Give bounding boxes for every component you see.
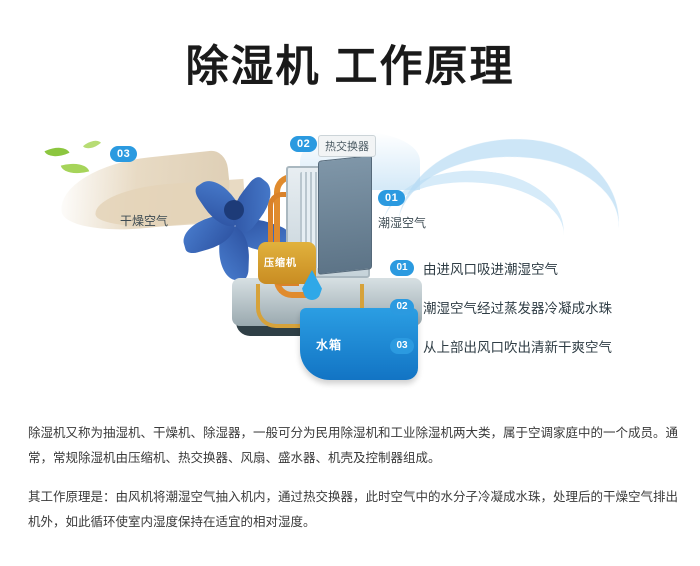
description-paragraph-2: 其工作原理是：由风机将潮湿空气抽入机内，通过热交换器，此时空气中的水分子冷凝成水… [28,484,678,534]
dry-air-label: 干燥空气 [120,212,168,229]
leaf-icon [44,142,69,162]
humid-air-label: 潮湿空气 [378,214,426,231]
legend-badge: 02 [390,299,414,315]
heat-exchanger-block [318,155,372,275]
page-title-part2: 工作原理 [335,42,515,92]
badge-02: 02 [290,136,317,152]
legend-list: 01 由进风口吸进潮湿空气 02 潮湿空气经过蒸发器冷凝成水珠 03 从上部出风… [390,258,690,375]
badge-03: 03 [110,146,137,162]
leaf-icon [61,159,89,178]
legend-label: 潮湿空气经过蒸发器冷凝成水珠 [423,297,612,317]
water-tank-label: 水箱 [316,336,342,353]
dehumidifier-diagram: 压缩机 水箱 03 干燥空气 02 热交换器 01 潮湿空气 01 由进风口吸进… [0,118,700,408]
legend-item: 01 由进风口吸进潮湿空气 [390,258,690,278]
legend-item: 03 从上部出风口吹出清新干爽空气 [390,336,690,356]
page-title-part1: 除湿机 [186,42,321,92]
heat-exchanger-label: 热交换器 [318,135,376,157]
legend-label: 从上部出风口吹出清新干爽空气 [423,336,612,356]
legend-item: 02 潮湿空气经过蒸发器冷凝成水珠 [390,297,690,317]
leaf-icon [83,136,101,153]
page-title: 除湿机工作原理 [0,32,700,94]
description-paragraph-1: 除湿机又称为抽湿机、干燥机、除湿器，一般可分为民用除湿机和工业除湿机两大类，属于… [28,420,678,470]
compressor-label: 压缩机 [264,254,297,269]
page-root: 除湿机工作原理 压缩机 水箱 [0,0,700,566]
description-block: 除湿机又称为抽湿机、干燥机、除湿器，一般可分为民用除湿机和工业除湿机两大类，属于… [28,420,678,548]
badge-01: 01 [378,190,405,206]
legend-label: 由进风口吸进潮湿空气 [423,258,558,278]
legend-badge: 01 [390,260,414,276]
legend-badge: 03 [390,338,414,354]
